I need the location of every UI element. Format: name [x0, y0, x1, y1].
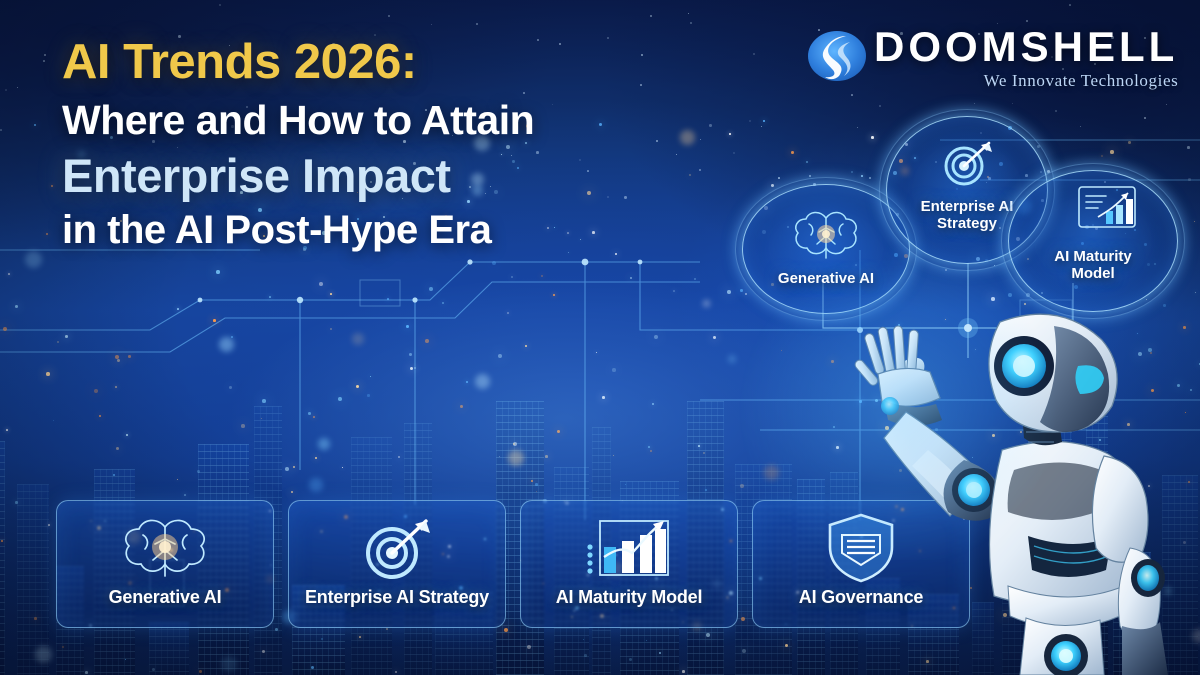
star-particle	[753, 53, 755, 55]
star-particle	[650, 15, 652, 17]
logo-text-group: DOOMSHELL We Innovate Technologies	[874, 26, 1178, 91]
card-ai-maturity-model[interactable]: AI Maturity Model	[520, 500, 738, 628]
headline-block: AI Trends 2026: Where and How to Attain …	[62, 38, 702, 250]
robot-illustration	[778, 300, 1200, 675]
light-particle	[51, 185, 53, 187]
card-label: Generative AI	[109, 587, 222, 608]
doomshell-s-monogram-icon	[806, 28, 868, 84]
headline-line-4: in the AI Post-Hype Era	[62, 210, 702, 250]
card-generative-ai[interactable]: Generative AI	[56, 500, 274, 628]
star-particle	[709, 124, 712, 127]
headline-line-2: Where and How to Attain	[62, 100, 702, 141]
bar-chart-growth-icon	[582, 511, 676, 583]
headline-line-3: Enterprise Impact	[62, 152, 702, 199]
star-particle	[690, 22, 692, 24]
star-particle	[44, 54, 46, 56]
star-particle	[476, 23, 478, 25]
card-enterprise-ai-strategy[interactable]: Enterprise AI Strategy	[288, 500, 506, 628]
star-particle	[1026, 20, 1028, 22]
node-ai-maturity-model[interactable]: AI Maturity Model	[1008, 170, 1178, 312]
skyline-building	[149, 622, 189, 675]
star-particle	[879, 105, 881, 107]
skyline-building	[0, 441, 5, 675]
target-arrow-icon	[936, 136, 998, 188]
star-particle	[17, 87, 18, 88]
card-label: AI Maturity Model	[556, 587, 703, 608]
star-particle	[974, 103, 975, 104]
star-particle	[0, 129, 2, 131]
headline-line-1: AI Trends 2026:	[62, 38, 702, 87]
star-particle	[43, 60, 45, 62]
star-particle	[388, 15, 390, 17]
banner-canvas: AI Trends 2026: Where and How to Attain …	[0, 0, 1200, 675]
logo-tagline: We Innovate Technologies	[874, 71, 1178, 91]
card-label: Enterprise AI Strategy	[305, 587, 489, 608]
light-particle	[46, 233, 48, 235]
node-label-line-2: Model	[1008, 265, 1178, 282]
star-particle	[219, 4, 221, 6]
light-particle	[34, 124, 36, 126]
star-particle	[1069, 4, 1071, 6]
humanoid-robot-figure	[778, 300, 1200, 675]
node-label-line-1: AI Maturity	[1008, 248, 1178, 265]
star-particle	[5, 89, 7, 91]
brain-icon	[117, 511, 213, 583]
star-particle	[1166, 104, 1167, 105]
star-particle	[688, 13, 689, 14]
brain-icon	[787, 206, 865, 262]
star-particle	[1012, 103, 1013, 104]
target-arrow-icon	[356, 511, 438, 583]
logo-wordmark: DOOMSHELL	[874, 26, 1178, 68]
skyline-building	[17, 484, 49, 675]
node-label: Generative AI	[742, 270, 910, 287]
star-particle	[851, 94, 853, 96]
doomshell-logo[interactable]: DOOMSHELL We Innovate Technologies	[806, 26, 1178, 91]
bar-chart-growth-icon	[1076, 184, 1138, 234]
star-particle	[431, 24, 432, 25]
